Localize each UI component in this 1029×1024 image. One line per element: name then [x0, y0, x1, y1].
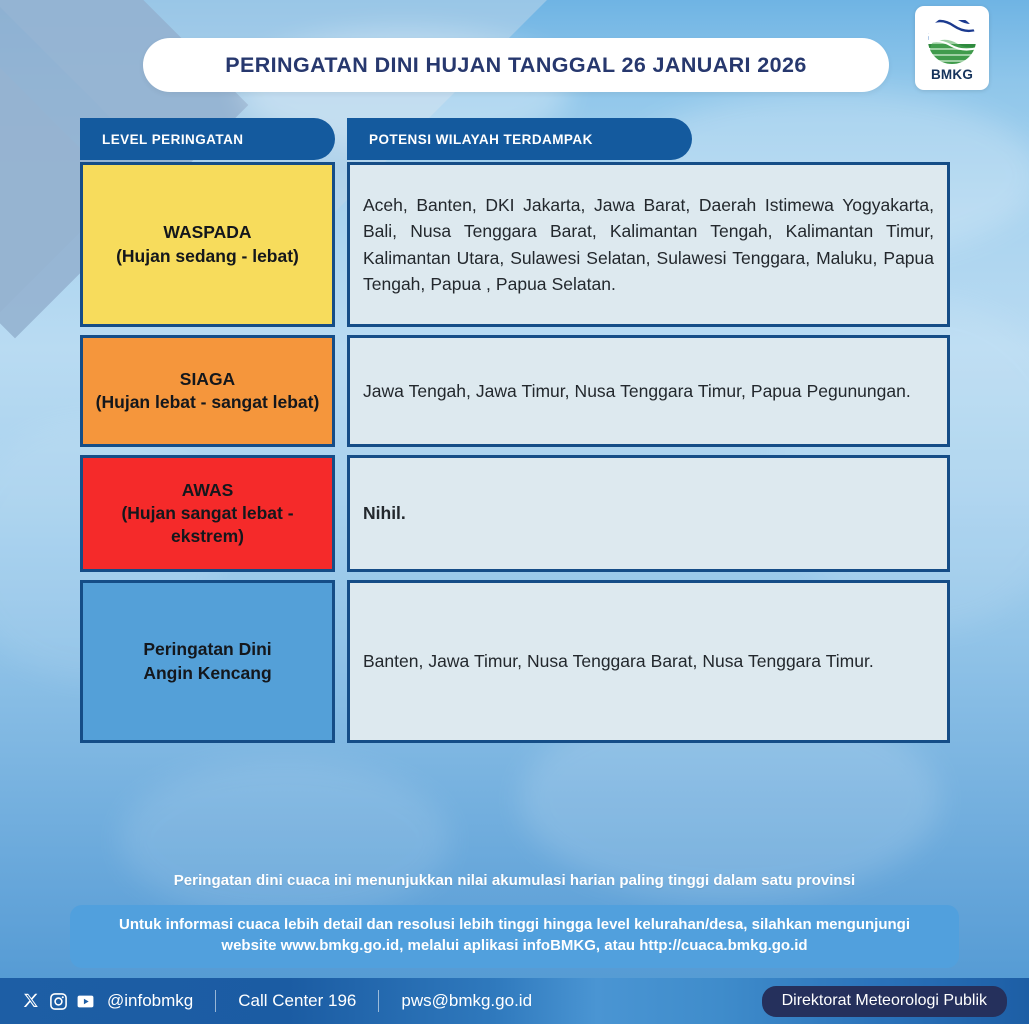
table-row: AWAS (Hujan sangat lebat - ekstrem) Nihi…	[80, 455, 950, 572]
table-row: WASPADA (Hujan sedang - lebat) Aceh, Ban…	[80, 162, 950, 327]
level-subtitle: (Hujan sedang - lebat)	[116, 246, 299, 266]
footer-bar: @infobmkg Call Center 196 pws@bmkg.go.id…	[0, 978, 1029, 1024]
level-cell-siaga: SIAGA (Hujan lebat - sangat lebat)	[80, 335, 335, 447]
footer-call-center: Call Center 196	[238, 991, 356, 1011]
x-twitter-icon[interactable]	[22, 992, 41, 1011]
level-cell-awas: AWAS (Hujan sangat lebat - ekstrem)	[80, 455, 335, 572]
level-title: AWAS	[182, 480, 234, 500]
level-cell-angin-kencang: Peringatan Dini Angin Kencang	[80, 580, 335, 743]
level-cell-waspada: WASPADA (Hujan sedang - lebat)	[80, 162, 335, 327]
level-title: WASPADA	[163, 222, 251, 242]
page-title-text: PERINGATAN DINI HUJAN TANGGAL 26 JANUARI…	[225, 53, 806, 78]
table-row: Peringatan Dini Angin Kencang Banten, Ja…	[80, 580, 950, 743]
instagram-icon[interactable]	[49, 992, 68, 1011]
bmkg-logo-text: BMKG	[931, 67, 973, 82]
cloud-decoration	[120, 760, 450, 920]
level-title: SIAGA	[180, 369, 235, 389]
table-row: SIAGA (Hujan lebat - sangat lebat) Jawa …	[80, 335, 950, 447]
area-cell-angin-kencang: Banten, Jawa Timur, Nusa Tenggara Barat,…	[347, 580, 950, 743]
note-accumulation: Peringatan dini cuaca ini menunjukkan ni…	[0, 872, 1029, 889]
column-header-area: POTENSI WILAYAH TERDAMPAK	[347, 118, 692, 160]
footer-social-group: @infobmkg Call Center 196 pws@bmkg.go.id	[0, 990, 532, 1012]
warning-table: LEVEL PERINGATAN POTENSI WILAYAH TERDAMP…	[80, 118, 950, 743]
column-header-level: LEVEL PERINGATAN	[80, 118, 335, 160]
footer-badge: Direktorat Meteorologi Publik	[762, 986, 1007, 1017]
bmkg-logo-icon	[924, 14, 980, 66]
footer-divider	[215, 990, 216, 1012]
infographic-poster: PERINGATAN DINI HUJAN TANGGAL 26 JANUARI…	[0, 0, 1029, 1024]
area-cell-awas: Nihil.	[347, 455, 950, 572]
footer-email[interactable]: pws@bmkg.go.id	[401, 991, 532, 1011]
footer-handle[interactable]: @infobmkg	[107, 991, 193, 1011]
level-subtitle: Angin Kencang	[143, 663, 271, 683]
level-subtitle: (Hujan lebat - sangat lebat)	[96, 392, 320, 412]
level-title: Peringatan Dini	[143, 639, 271, 659]
footer-divider	[378, 990, 379, 1012]
page-title: PERINGATAN DINI HUJAN TANGGAL 26 JANUARI…	[143, 38, 889, 92]
area-cell-siaga: Jawa Tengah, Jawa Timur, Nusa Tenggara T…	[347, 335, 950, 447]
bmkg-logo: BMKG	[915, 6, 989, 90]
level-subtitle: (Hujan sangat lebat - ekstrem)	[121, 503, 293, 546]
note-more-info: Untuk informasi cuaca lebih detail dan r…	[70, 905, 959, 968]
area-cell-waspada: Aceh, Banten, DKI Jakarta, Jawa Barat, D…	[347, 162, 950, 327]
youtube-icon[interactable]	[76, 992, 95, 1011]
table-header-row: LEVEL PERINGATAN POTENSI WILAYAH TERDAMP…	[80, 118, 950, 160]
